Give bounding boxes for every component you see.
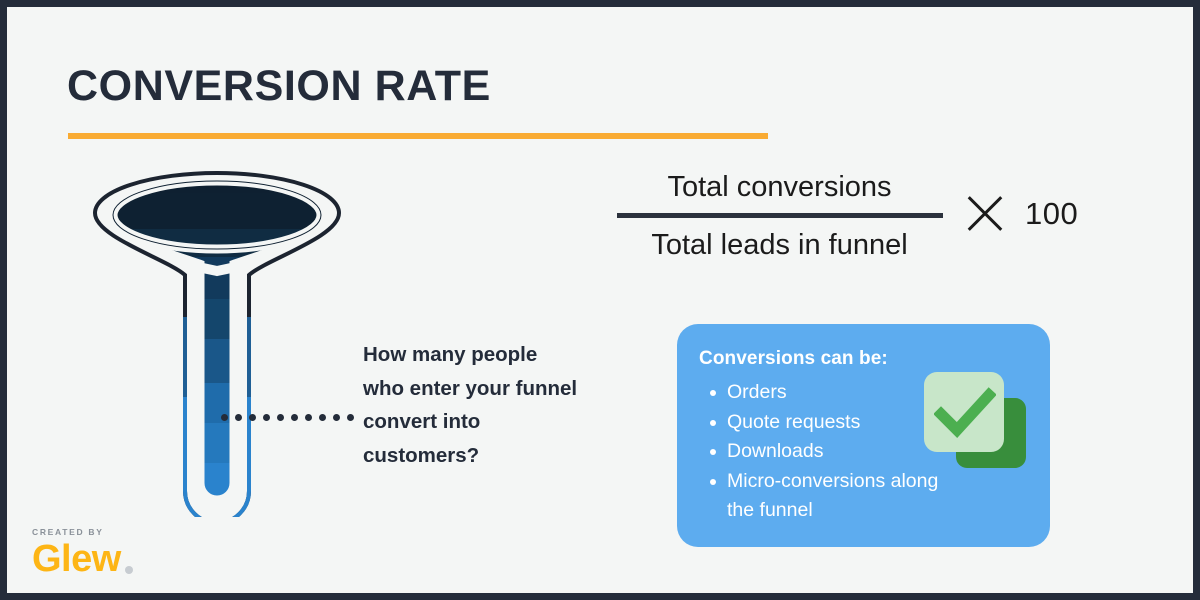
funnel-caption: How many people who enter your funnel co… <box>363 338 583 472</box>
list-item: Downloads <box>727 437 947 467</box>
brand-kicker: CREATED BY <box>32 527 133 537</box>
check-square-icon <box>924 372 1026 472</box>
list-item: Micro-conversions along the funnel <box>727 467 947 526</box>
conversions-card: Conversions can be: Orders Quote request… <box>677 324 1050 547</box>
fraction: Total conversions Total leads in funnel <box>607 165 952 267</box>
infographic-canvas: CONVERSION RATE <box>0 0 1200 600</box>
list-item: Quote requests <box>727 408 947 438</box>
checkmark-glyph <box>934 381 996 443</box>
funnel-illustration <box>67 167 387 522</box>
conversion-rate-formula: Total conversions Total leads in funnel … <box>607 165 1077 280</box>
dotted-connector <box>221 414 355 421</box>
brand-dot-icon <box>125 566 133 574</box>
page-title: CONVERSION RATE <box>67 62 491 111</box>
conversions-list: Orders Quote requests Downloads Micro-co… <box>701 378 947 526</box>
brand-wordmark: Glew <box>32 540 121 578</box>
formula-multiplier: 100 <box>1025 196 1078 232</box>
brand-name: Glew <box>32 540 133 578</box>
fraction-denominator: Total leads in funnel <box>607 223 952 267</box>
card-title: Conversions can be: <box>699 348 888 370</box>
title-underline-rule <box>68 133 768 139</box>
list-item: Orders <box>727 378 947 408</box>
brand-lockup: CREATED BY Glew <box>32 527 133 578</box>
multiply-icon <box>962 191 1008 237</box>
fraction-numerator: Total conversions <box>607 165 952 209</box>
fraction-bar <box>617 213 943 218</box>
